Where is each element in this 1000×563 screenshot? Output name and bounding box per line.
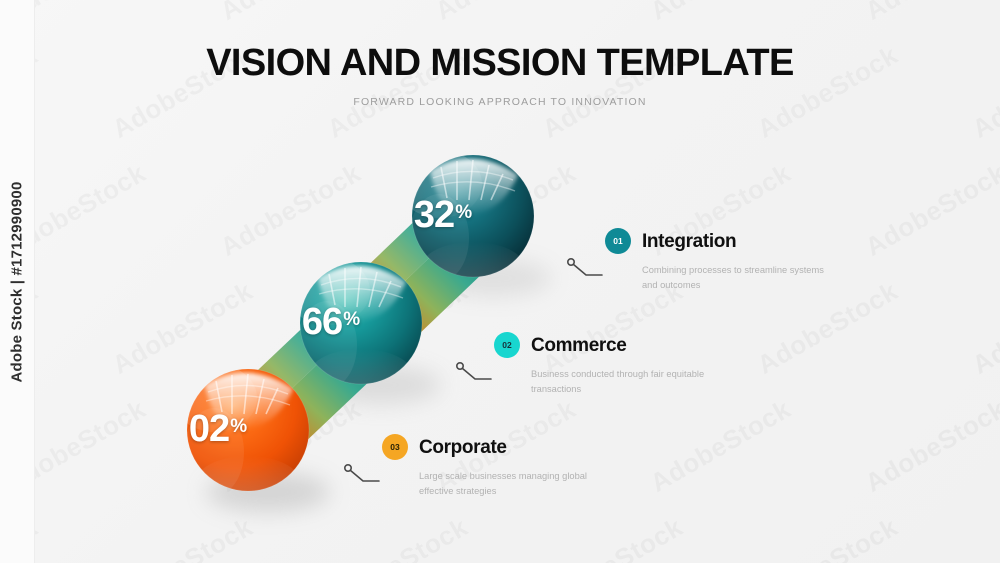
slide-canvas: AdobeStockAdobeStockAdobeStockAdobeStock… [0,0,1000,563]
page-subtitle: FORWARD LOOKING APPROACH TO INNOVATION [0,96,1000,108]
info-title-corporate: Corporate [419,438,507,457]
stock-edge-label-text: Adobe Stock | #1712990900 [9,181,26,382]
info-header-corporate: 03 Corporate [382,434,604,460]
info-title-integration: Integration [642,232,736,251]
info-block-integration[interactable]: 01 Integration Combining processes to st… [605,228,827,294]
badge-02-label: 02 [502,340,511,350]
page-title: VISION AND MISSION TEMPLATE [0,44,1000,82]
badge-02: 02 [494,332,520,358]
info-header-commerce: 02 Commerce [494,332,716,358]
info-title-commerce: Commerce [531,336,626,355]
badge-03: 03 [382,434,408,460]
badge-01-label: 01 [613,236,622,246]
badge-03-label: 03 [390,442,399,452]
header: VISION AND MISSION TEMPLATE FORWARD LOOK… [0,44,1000,108]
info-desc-commerce: Business conducted through fair equitabl… [531,367,716,398]
info-desc-integration: Combining processes to streamline system… [642,263,827,294]
connector-hook-icon [344,462,386,488]
connector-hook-icon [456,360,498,386]
badge-01: 01 [605,228,631,254]
info-block-corporate[interactable]: 03 Corporate Large scale businesses mana… [382,434,604,500]
info-block-commerce[interactable]: 02 Commerce Business conducted through f… [494,332,716,398]
stock-edge-label: Adobe Stock | #1712990900 [0,0,35,563]
info-header-integration: 01 Integration [605,228,827,254]
info-desc-corporate: Large scale businesses managing global e… [419,469,604,500]
connector-hook-icon [567,256,609,282]
